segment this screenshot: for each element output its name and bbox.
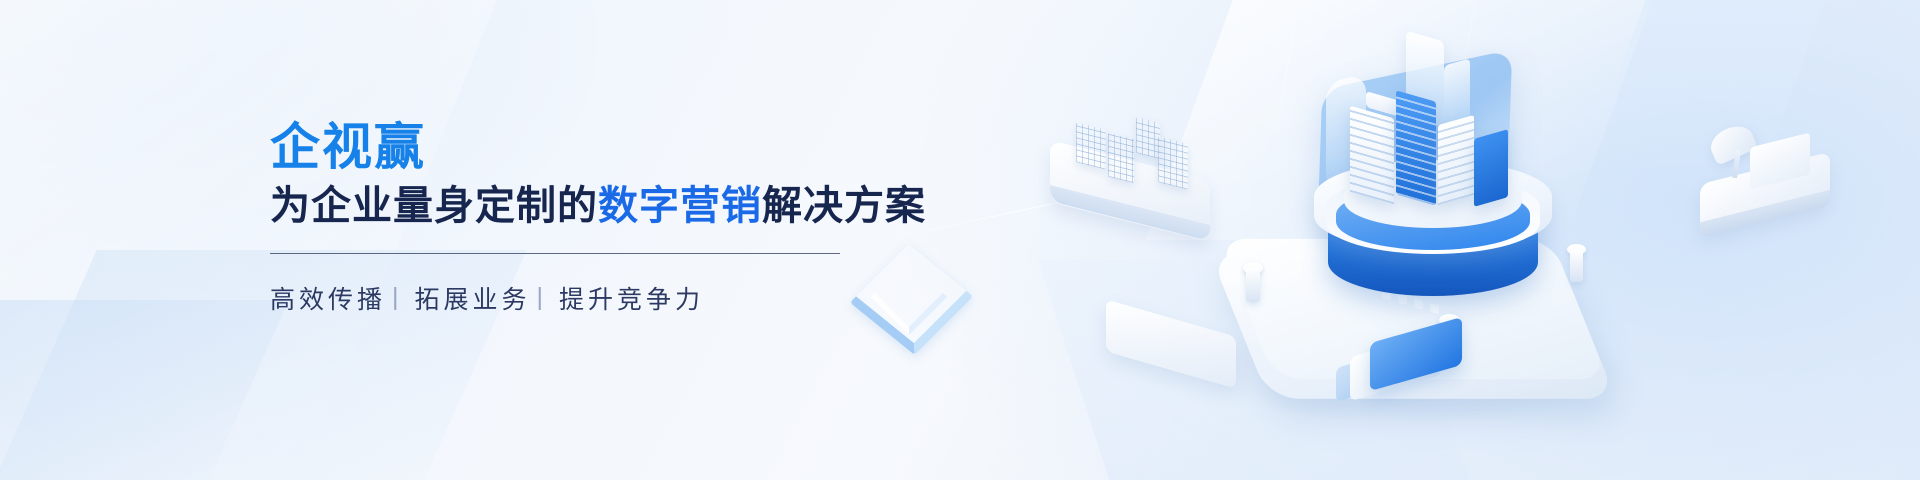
hero-headline: 为企业量身定制的数字营销解决方案	[270, 184, 910, 229]
headline-text-accent: 数字营销	[598, 184, 762, 228]
pin-leg-3	[1570, 250, 1583, 282]
city-tower-blue-a-windows	[1396, 90, 1436, 205]
city-tower-white-a-windows	[1350, 106, 1394, 205]
background-shape-left-bottom	[0, 300, 289, 480]
brand-name: 企视赢	[270, 122, 910, 172]
headline-text-after: 解决方案	[762, 184, 926, 228]
indicator-light	[1414, 298, 1423, 310]
small-building-2	[1108, 133, 1134, 183]
hero-copy-block: 企视赢 为企业量身定制的数字营销解决方案 高效传播 | 拓展业务 | 提升竞争力	[270, 122, 910, 316]
hero-illustration	[1050, 0, 1920, 480]
hero-tagline: 高效传播 | 拓展业务 | 提升竞争力	[270, 280, 910, 316]
indicator-light	[1430, 303, 1439, 315]
tagline-item-2: 提升竞争力	[559, 280, 704, 316]
tagline-separator-1: |	[537, 283, 548, 312]
tagline-separator-0: |	[392, 283, 403, 312]
headline-divider	[270, 253, 840, 254]
headline-text-before: 为企业量身定制的	[270, 184, 598, 228]
city-tower-blue-b	[1474, 129, 1508, 207]
tagline-item-0: 高效传播	[270, 280, 386, 316]
floating-slab	[1106, 299, 1236, 388]
pin-leg-1	[1246, 268, 1260, 302]
city-tower-white-b-windows	[1438, 115, 1474, 205]
small-building-4	[1158, 136, 1188, 189]
marketing-hero-banner: 企视赢 为企业量身定制的数字营销解决方案 高效传播 | 拓展业务 | 提升竞争力	[0, 0, 1920, 480]
small-building-1	[1076, 122, 1106, 169]
indicator-light	[1398, 294, 1407, 306]
tagline-item-1: 拓展业务	[415, 280, 531, 316]
small-building-3	[1136, 117, 1160, 159]
